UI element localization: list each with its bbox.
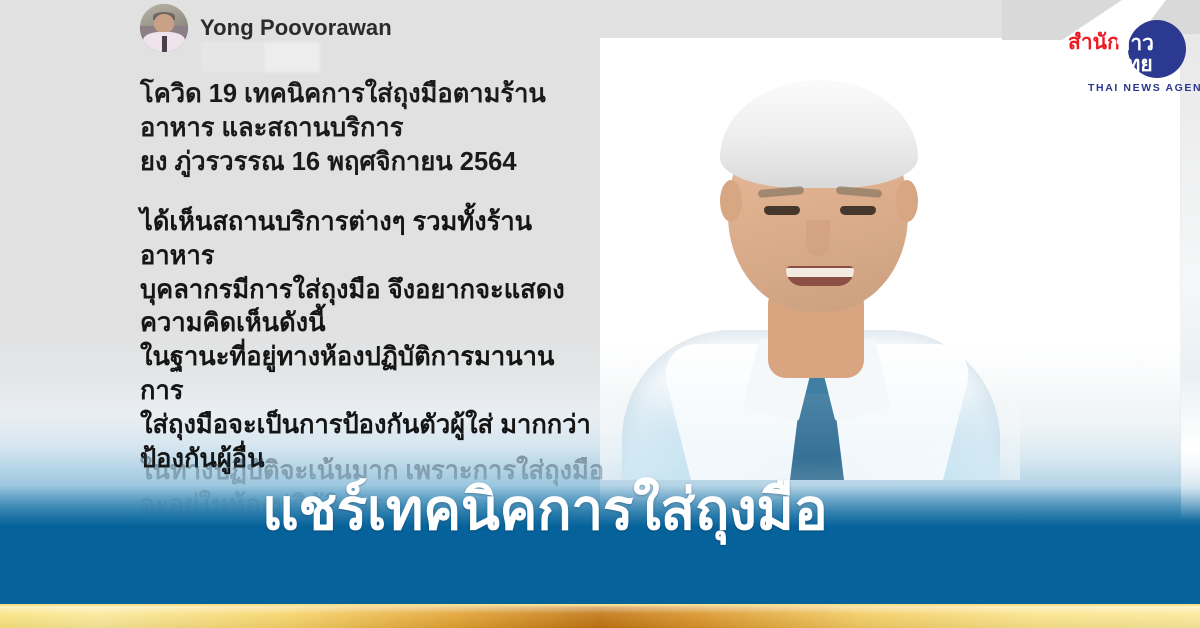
post-heading-text: โควิด 19 เทคนิคการใส่ถุงมือตามร้าน อาหาร… [140, 78, 600, 180]
eye-left [764, 206, 800, 215]
news-graphic-canvas: Yong Poovorawan โควิด 19 เทคนิคการใส่ถุง… [0, 0, 1200, 628]
eye-right [840, 206, 876, 215]
screenshot-top-strip [596, 0, 1016, 38]
ear-left [720, 180, 742, 222]
logo-tagline: THAI NEWS AGENCY [1088, 82, 1200, 94]
bottom-gold-bar [0, 604, 1200, 628]
thai-news-agency-logo: สำนัก ข่าวไทย THAI NEWS AGENCY [1062, 20, 1188, 92]
post-author-name: Yong Poovorawan [200, 15, 392, 41]
hair [720, 80, 918, 188]
ear-right [896, 180, 918, 222]
portrait-photo [600, 40, 1020, 480]
nose [806, 220, 830, 256]
logo-word-samnak: สำนัก [1068, 32, 1120, 53]
avatar [140, 4, 188, 52]
post-body-text: ได้เห็นสถานบริการต่างๆ รวมทั้งร้านอาหาร … [140, 206, 600, 477]
logo-wordmark-row: สำนัก ข่าวไทย [1062, 20, 1188, 66]
mouth [786, 266, 854, 286]
logo-word-khaothai: ข่าวไทย [1116, 33, 1188, 75]
redacted-block [201, 42, 320, 72]
headline-text: แชร์เทคนิคการใส่ถุงมือ [262, 481, 962, 541]
teeth [786, 268, 854, 277]
